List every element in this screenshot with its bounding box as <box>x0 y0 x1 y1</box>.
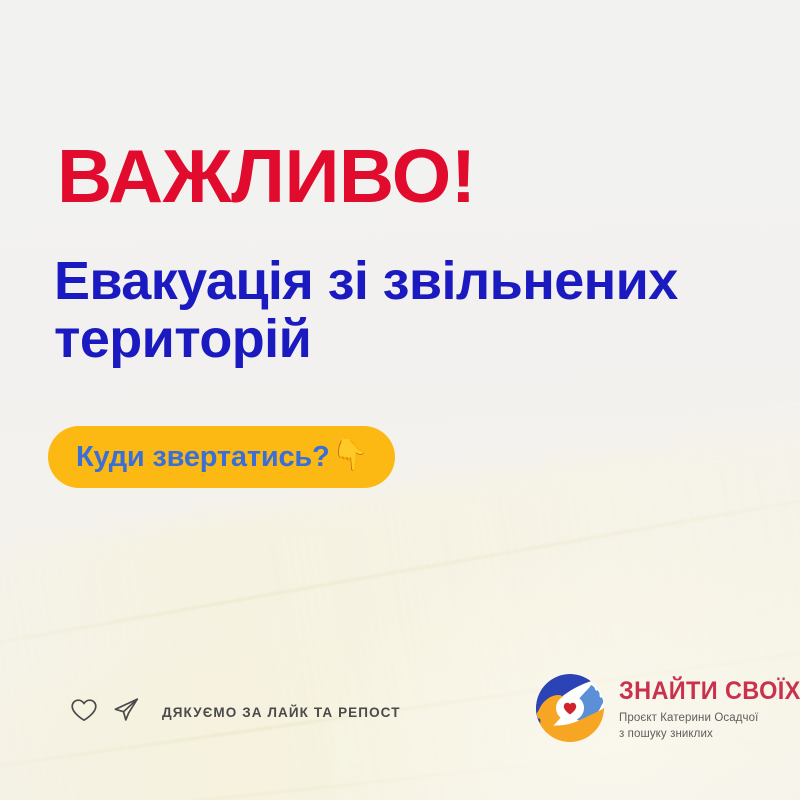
brand-lockup[interactable]: ЗНАЙТИ СВОЇХ Проєкт Катерини Осадчої з п… <box>534 672 800 749</box>
paper-plane-icon[interactable] <box>112 697 140 728</box>
poster-canvas: ВАЖЛИВО! Евакуація зі звільнених територ… <box>0 0 800 800</box>
pointing-down-hand-icon: 👇 <box>332 441 369 471</box>
heart-icon[interactable] <box>70 698 98 728</box>
share-row: ДЯКУЄМО ЗА ЛАЙК ТА РЕПОСТ <box>70 697 401 728</box>
brand-name: ЗНАЙТИ СВОЇХ <box>619 679 800 704</box>
brand-tagline-line-2: з пошуку зниклих <box>619 728 713 740</box>
brand-tagline: Проєкт Катерини Осадчої з пошуку зниклих <box>619 711 800 742</box>
page-title: Евакуація зі звільнених територій <box>54 253 754 369</box>
share-thanks-text: ДЯКУЄМО ЗА ЛАЙК ТА РЕПОСТ <box>162 705 401 720</box>
where-to-apply-button[interactable]: Куди звертатись? 👇 <box>48 426 395 488</box>
kicker-important: ВАЖЛИВО! <box>57 139 476 214</box>
hands-heart-logo-icon <box>534 672 606 749</box>
brand-text-block: ЗНАЙТИ СВОЇХ Проєкт Катерини Осадчої з п… <box>619 679 800 742</box>
poster-content: ВАЖЛИВО! Евакуація зі звільнених територ… <box>0 0 800 800</box>
where-to-apply-label: Куди звертатись? <box>76 441 330 474</box>
brand-tagline-line-1: Проєкт Катерини Осадчої <box>619 712 758 724</box>
